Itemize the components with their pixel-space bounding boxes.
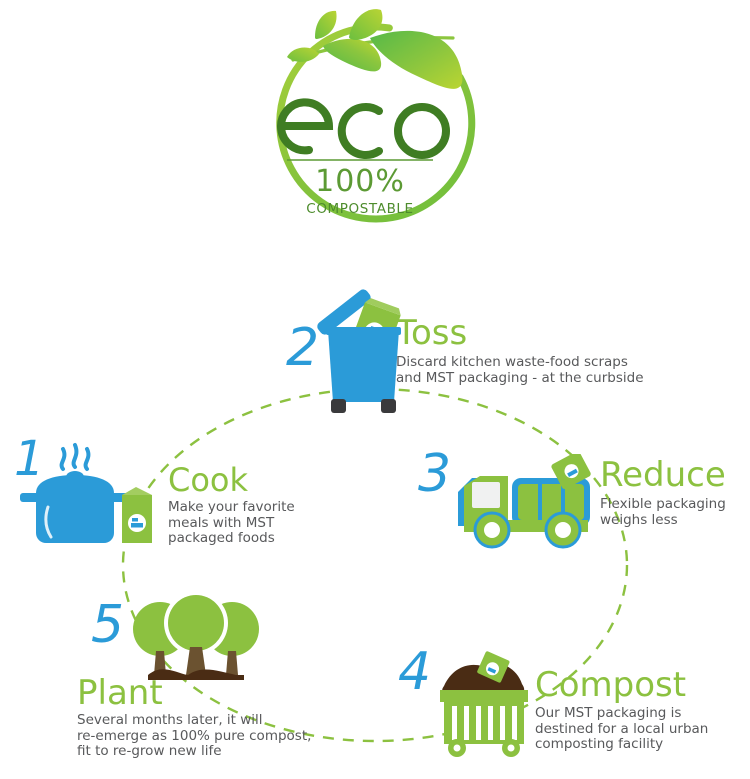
garbage-truck-icon — [450, 454, 600, 554]
step-desc-compost: Our MST packaging is destined for a loca… — [535, 706, 708, 753]
step-text-plant: Plant Several months later, it will re-e… — [77, 676, 311, 760]
compost-bin-icon — [432, 648, 540, 764]
step-text-reduce: Reduce Flexible packaging weighs less — [600, 458, 726, 528]
infographic-canvas: 100% COMPOSTABLE 2 — [0, 0, 750, 779]
step-title-toss: Toss — [396, 316, 644, 350]
step-number-compost: 4 — [398, 646, 430, 698]
step-desc-toss: Discard kitchen waste-food scraps and MS… — [396, 355, 644, 386]
cooking-pot-icon — [18, 441, 158, 551]
step-title-cook: Cook — [168, 464, 295, 496]
step-cook[interactable]: 1 — [0, 428, 340, 558]
step-text-cook: Cook Make your favorite meals with MST p… — [168, 464, 295, 547]
step-desc-plant: Several months later, it will re-emerge … — [77, 713, 311, 760]
step-toss[interactable]: 2 — [0, 0, 750, 430]
step-desc-cook: Make your favorite meals with MST packag… — [168, 500, 295, 547]
step-desc-reduce: Flexible packaging weighs less — [600, 497, 726, 528]
step-text-compost: Compost Our MST packaging is destined fo… — [535, 668, 708, 753]
step-plant[interactable]: 5 Plant Several months later, i — [60, 585, 390, 775]
trash-bin-icon — [311, 285, 403, 421]
step-title-compost: Compost — [535, 668, 708, 702]
step-text-toss: Toss Discard kitchen waste-food scraps a… — [396, 316, 644, 386]
step-reduce[interactable]: 3 — [410, 440, 750, 560]
step-number-plant: 5 — [91, 599, 123, 651]
step-compost[interactable]: 4 — [390, 640, 750, 775]
step-title-plant: Plant — [77, 676, 311, 710]
step-number-reduce: 3 — [418, 448, 450, 500]
step-title-reduce: Reduce — [600, 458, 726, 492]
